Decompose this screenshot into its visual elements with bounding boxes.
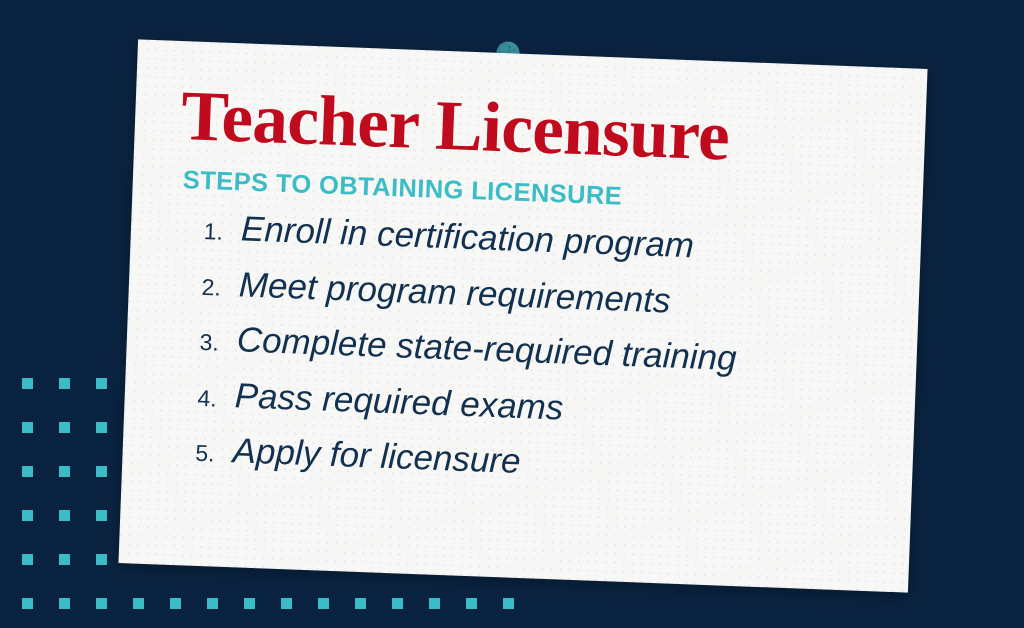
page-title: Teacher Licensure xyxy=(180,81,880,178)
step-number: 5. xyxy=(168,439,215,468)
dot-decoration xyxy=(59,598,70,609)
dot-decoration xyxy=(22,510,33,521)
dot-decoration xyxy=(96,378,107,389)
dot-decoration xyxy=(244,598,255,609)
dot-decoration xyxy=(22,378,33,389)
dot-decoration xyxy=(96,598,107,609)
dot-decoration xyxy=(429,598,440,609)
dot-decoration xyxy=(96,466,107,477)
dot-decoration xyxy=(59,378,70,389)
step-number: 1. xyxy=(176,217,223,246)
dot-decoration xyxy=(318,598,329,609)
poster-canvas: Teacher Licensure STEPS TO OBTAINING LIC… xyxy=(0,0,1024,628)
dot-decoration xyxy=(355,598,366,609)
step-number: 3. xyxy=(172,328,219,357)
dot-decoration xyxy=(207,598,218,609)
dot-decoration xyxy=(22,598,33,609)
dot-decoration xyxy=(281,598,292,609)
dot-decoration xyxy=(133,598,144,609)
dot-decoration xyxy=(170,598,181,609)
step-number: 2. xyxy=(174,273,221,302)
dot-decoration xyxy=(392,598,403,609)
dot-decoration xyxy=(96,422,107,433)
dot-decoration xyxy=(96,554,107,565)
step-number: 4. xyxy=(170,384,217,413)
dot-decoration xyxy=(503,598,514,609)
dot-decoration xyxy=(22,422,33,433)
dot-decoration xyxy=(59,554,70,565)
step-label: Apply for licensure xyxy=(214,424,522,489)
dot-decoration xyxy=(59,422,70,433)
dot-decoration xyxy=(22,554,33,565)
dot-decoration xyxy=(59,466,70,477)
dot-decoration xyxy=(466,598,477,609)
steps-list: 1. Enroll in certification program 2. Me… xyxy=(168,200,876,502)
dot-decoration xyxy=(59,510,70,521)
pinned-card: Teacher Licensure STEPS TO OBTAINING LIC… xyxy=(118,39,927,592)
dot-decoration xyxy=(96,510,107,521)
dot-decoration xyxy=(22,466,33,477)
